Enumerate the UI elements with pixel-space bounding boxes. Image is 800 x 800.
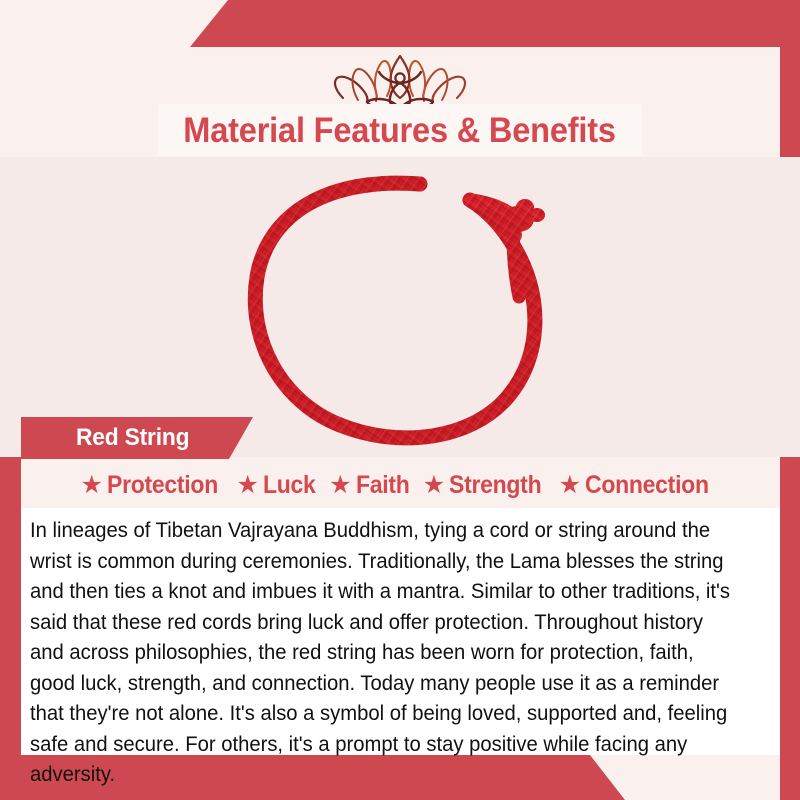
feature-label: Strength	[449, 471, 541, 500]
title-banner: Material Features & Benefits	[158, 104, 642, 157]
feature-label: Luck	[263, 471, 316, 500]
feature-label: Faith	[356, 471, 410, 500]
product-label-banner: Red String	[21, 417, 253, 459]
feature-item-luck: ★ Luck	[237, 471, 321, 500]
feature-item-connection: ★ Connection	[559, 471, 720, 500]
star-icon: ★	[559, 473, 581, 498]
feature-item-strength: ★ Strength	[423, 471, 550, 500]
feature-item-protection: ★ Protection	[81, 471, 228, 500]
star-icon: ★	[81, 473, 103, 498]
feature-label: Protection	[107, 471, 218, 500]
page-title: Material Features & Benefits	[184, 111, 617, 151]
product-label: Red String	[76, 424, 189, 452]
product-photo	[0, 157, 800, 457]
description-text: In lineages of Tibetan Vajrayana Buddhis…	[30, 516, 733, 791]
feature-item-faith: ★ Faith	[329, 471, 414, 500]
feature-label: Connection	[585, 471, 709, 500]
description-panel: In lineages of Tibetan Vajrayana Buddhis…	[21, 508, 780, 755]
infographic-canvas: BUDDHA STONES Material Features & Benefi…	[0, 0, 800, 800]
star-icon: ★	[423, 473, 445, 498]
star-icon: ★	[237, 473, 259, 498]
red-string-bracelet-icon	[0, 157, 800, 457]
top-red-banner	[0, 0, 800, 47]
features-row: ★ Protection ★ Luck ★ Faith ★ Strength ★…	[0, 464, 800, 506]
star-icon: ★	[329, 473, 351, 498]
